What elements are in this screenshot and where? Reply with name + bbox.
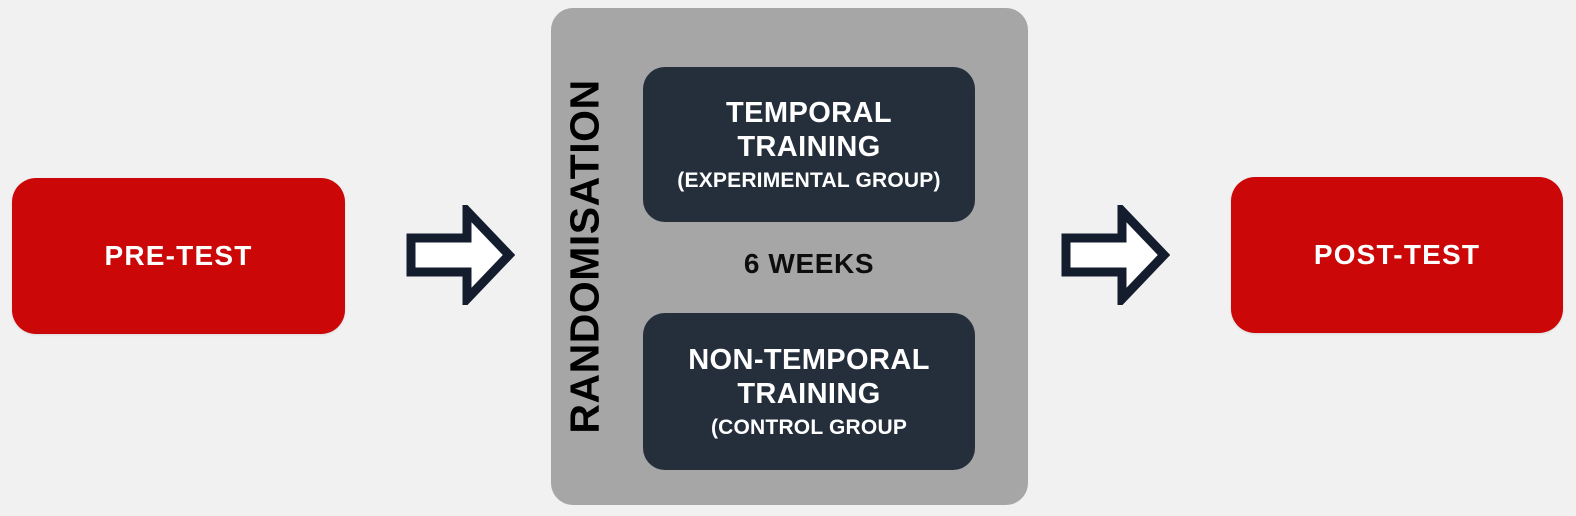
non-temporal-training-title-line-1: NON-TEMPORAL xyxy=(688,343,930,377)
duration-label: 6 WEEKS xyxy=(643,240,975,288)
non-temporal-training-subtitle: (CONTROL GROUP xyxy=(711,415,907,440)
non-temporal-training-box: NON-TEMPORAL TRAINING (CONTROL GROUP xyxy=(643,313,975,470)
randomisation-container: RANDOMISATION TEMPORAL TRAINING (EXPERIM… xyxy=(551,8,1028,505)
temporal-training-box: TEMPORAL TRAINING (EXPERIMENTAL GROUP) xyxy=(643,67,975,222)
temporal-training-title-line-2: TRAINING xyxy=(737,130,880,164)
study-design-flowchart: PRE-TEST RANDOMISATION TEMPORAL TRAINING… xyxy=(0,0,1576,516)
arrow-randomisation-to-posttest-icon xyxy=(1060,205,1170,305)
pre-test-box: PRE-TEST xyxy=(12,178,345,334)
arrow-pretest-to-randomisation-icon xyxy=(405,205,515,305)
randomisation-label-text: RANDOMISATION xyxy=(562,79,609,433)
pre-test-label: PRE-TEST xyxy=(104,240,252,272)
randomisation-label: RANDOMISATION xyxy=(551,8,619,505)
temporal-training-subtitle: (EXPERIMENTAL GROUP) xyxy=(677,168,940,193)
post-test-box: POST-TEST xyxy=(1231,177,1563,333)
temporal-training-title-line-1: TEMPORAL xyxy=(726,96,892,130)
non-temporal-training-title-line-2: TRAINING xyxy=(737,377,880,411)
post-test-label: POST-TEST xyxy=(1314,239,1480,271)
